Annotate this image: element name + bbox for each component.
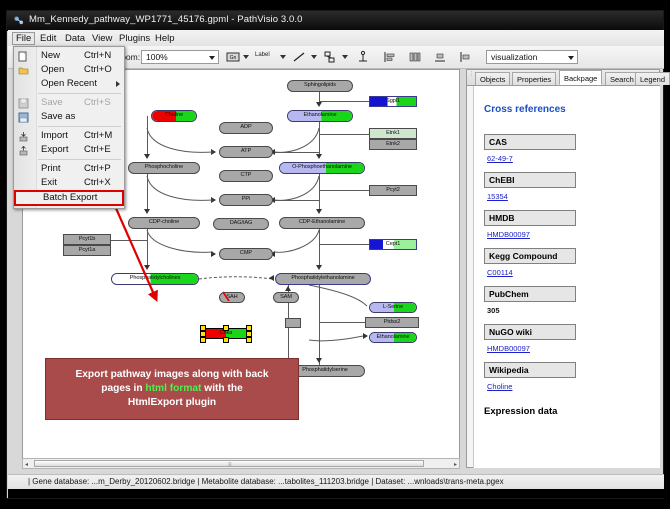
interaction-tool-icon[interactable]	[323, 50, 337, 64]
pathway-anchor-block[interactable]	[285, 318, 301, 328]
pathway-node[interactable]: O-Phosphoethanolamine	[279, 162, 365, 174]
menu-view[interactable]: View	[88, 32, 116, 45]
pathway-node[interactable]: ATP	[219, 146, 273, 158]
pathvisio-window: Mm_Kennedy_pathway_WP1771_45176.gpml - P…	[6, 10, 664, 499]
pathway-node[interactable]: Etnk2	[369, 139, 417, 150]
file-menu-item-open[interactable]: Open Ctrl+O	[14, 63, 124, 77]
pathway-node[interactable]: Ethanolamine	[287, 110, 353, 122]
tab-objects[interactable]: Objects	[475, 72, 510, 85]
window-title: Mm_Kennedy_pathway_WP1771_45176.gpml - P…	[29, 14, 303, 25]
accelerator: Ctrl+O	[84, 63, 112, 77]
annotation-highlight: html format	[145, 383, 201, 394]
file-menu-dropdown[interactable]: New Ctrl+N Open Ctrl+O Open Recent Save …	[13, 46, 125, 209]
menu-file[interactable]: File	[12, 32, 35, 45]
save-as-icon	[18, 112, 29, 123]
pathway-node[interactable]: SAH	[219, 292, 245, 303]
xref-value-cas[interactable]: 62-49-7	[487, 154, 513, 163]
arrow-icon	[363, 333, 368, 339]
label: New	[41, 49, 60, 63]
svg-text:Gn: Gn	[230, 55, 237, 61]
distribute-icon[interactable]	[433, 50, 447, 64]
xref-label-kegg-compound: Kegg Compound	[484, 248, 576, 264]
tab-search[interactable]: Search	[605, 72, 639, 85]
open-folder-icon	[18, 65, 29, 76]
pathway-node[interactable]: CDP-Ethanolamine	[279, 217, 365, 229]
label: Open	[41, 63, 64, 77]
menu-plugins[interactable]: Plugins	[115, 32, 154, 45]
status-bar: | Gene database: ...m_Derby_20120602.bri…	[8, 474, 664, 489]
accelerator: Ctrl+P	[84, 162, 111, 176]
annotation-line-2b: with the	[201, 383, 242, 394]
annotation-text: Export pathway images along with back pa…	[69, 368, 274, 410]
xref-value-chebi[interactable]: 15354	[487, 192, 508, 201]
label: Export	[41, 143, 68, 157]
xref-label-chebi: ChEBI	[484, 172, 576, 188]
file-menu-item-import[interactable]: Import Ctrl+M	[14, 129, 124, 143]
pathway-node[interactable]: Phosphatidylcholines	[111, 273, 199, 285]
file-menu-item-exit[interactable]: Exit Ctrl+X	[14, 176, 124, 190]
pathway-node[interactable]: SAM	[273, 292, 299, 303]
label: Save	[41, 96, 63, 110]
menu-separator	[38, 93, 121, 94]
line-tool-icon[interactable]	[292, 50, 306, 64]
menu-data[interactable]: Data	[61, 32, 89, 45]
label: Import	[41, 129, 68, 143]
pathway-node[interactable]: DAG/IAG	[213, 218, 269, 230]
xref-label-hmdb: HMDB	[484, 210, 576, 226]
file-menu-item-new[interactable]: New Ctrl+N	[14, 49, 124, 63]
chevron-right-icon	[116, 81, 120, 87]
pathway-node[interactable]: Cept1	[369, 239, 417, 250]
file-menu-item-export[interactable]: Export Ctrl+E	[14, 143, 124, 157]
pathway-node[interactable]: Sgpl1	[369, 96, 417, 107]
tab-properties[interactable]: Properties	[512, 72, 556, 85]
file-menu-item-batch-export[interactable]: Batch Export	[14, 190, 124, 206]
pathway-node[interactable]: Pcyt1a	[63, 245, 111, 256]
side-panel-tabs: ⋮ Objects Properties Backpage Search Leg…	[467, 70, 659, 86]
pathway-node[interactable]: CMP	[219, 248, 273, 260]
import-icon	[18, 131, 29, 142]
annotation-line-1: Export pathway images along with back	[75, 369, 268, 380]
file-menu-item-save-as[interactable]: Save as	[14, 110, 124, 124]
pathway-node[interactable]: Sphingolipids	[287, 80, 353, 92]
menu-help[interactable]: Help	[151, 32, 179, 45]
label: Batch Export	[43, 192, 97, 204]
label: Exit	[41, 176, 57, 190]
save-disk-icon	[18, 98, 29, 109]
visualization-combo[interactable]: visualization	[486, 50, 578, 64]
visualization-value: visualization	[491, 52, 537, 62]
label: Save as	[41, 110, 75, 124]
align-center-icon[interactable]	[408, 50, 422, 64]
pathvisio-app-icon	[13, 15, 24, 26]
pathway-node[interactable]: Pcyt2	[369, 185, 417, 196]
xref-value-pubchem: 305	[487, 306, 500, 315]
xref-label-cas: CAS	[484, 134, 576, 150]
menu-separator	[38, 126, 121, 127]
accelerator: Ctrl+N	[84, 49, 111, 63]
anchor-tool-icon[interactable]	[356, 50, 370, 64]
pathway-node[interactable]: Pcyt1b	[63, 234, 111, 245]
window-bottom-edge	[8, 489, 664, 498]
xref-label-wikipedia: Wikipedia	[484, 362, 576, 378]
title-bar: Mm_Kennedy_pathway_WP1771_45176.gpml - P…	[7, 11, 663, 31]
pathway-node[interactable]: PPi	[219, 194, 273, 206]
datanode-dropdown-icon[interactable]	[243, 55, 249, 59]
scrollbar-grip-icon: ≡	[228, 462, 232, 468]
label: Open Recent	[41, 77, 97, 91]
xref-label-pubchem: PubChem	[484, 286, 576, 302]
pathway-node[interactable]: Choline	[151, 110, 197, 122]
menu-bar: File Edit Data View Plugins Help	[8, 30, 664, 47]
annotation-line-3: HtmlExport plugin	[128, 397, 216, 408]
panel-grip-icon[interactable]: ⋮	[469, 72, 474, 77]
line-dropdown-icon[interactable]	[311, 55, 317, 59]
menu-edit[interactable]: Edit	[36, 32, 60, 45]
pathway-node[interactable]: ADP	[219, 122, 273, 134]
label-dropdown-icon[interactable]	[280, 55, 286, 59]
menu-separator	[38, 159, 121, 160]
tab-backpage[interactable]: Backpage	[559, 70, 602, 85]
accelerator: Ctrl+S	[84, 96, 111, 110]
label: Print	[41, 162, 61, 176]
pathway-node[interactable]: L-Serine	[369, 302, 417, 313]
new-file-icon	[18, 51, 29, 62]
pathway-node[interactable]: Phosphatidylethanolamine	[275, 273, 371, 285]
status-text: | Gene database: ...m_Derby_20120602.bri…	[28, 477, 504, 486]
zoom-value: 100%	[146, 52, 168, 62]
align-left-icon[interactable]	[383, 50, 397, 64]
file-menu-item-print[interactable]: Print Ctrl+P	[14, 162, 124, 176]
label-tool-label: Label	[255, 52, 270, 58]
xref-value-nugo-wiki[interactable]: HMDB00097	[487, 344, 530, 353]
screenshot-frame: Mm_Kennedy_pathway_WP1771_45176.gpml - P…	[0, 0, 670, 509]
interaction-dropdown-icon[interactable]	[342, 55, 348, 59]
xref-value-wikipedia[interactable]: Choline	[487, 382, 512, 391]
arrow-icon	[269, 275, 274, 281]
side-panel: ⋮ Objects Properties Backpage Search Leg…	[466, 69, 660, 468]
scroll-left-icon[interactable]: ◂	[25, 461, 28, 468]
cross-references-title: Cross references	[484, 104, 566, 115]
xref-value-hmdb[interactable]: HMDB00097	[487, 230, 530, 239]
xref-value-kegg-compound[interactable]: C00114	[487, 268, 513, 277]
chevron-down-icon	[568, 56, 574, 60]
scroll-right-icon[interactable]: ▸	[454, 461, 457, 468]
file-menu-item-save: Save Ctrl+S	[14, 96, 124, 110]
accelerator: Ctrl+M	[84, 129, 112, 143]
stack-icon[interactable]	[458, 50, 472, 64]
pathway-node[interactable]: Ethanolamine	[369, 332, 417, 343]
expression-data-title: Expression data	[484, 406, 557, 417]
zoom-combo[interactable]: 100%	[141, 50, 219, 64]
pathway-node[interactable]: Etnk1	[369, 128, 417, 139]
backpage-content[interactable]: Cross references CAS 62-49-7 ChEBI 15354…	[473, 86, 660, 468]
pathway-node[interactable]: CTP	[219, 170, 273, 182]
xref-label-nugo-wiki: NuGO wiki	[484, 324, 576, 340]
file-menu-item-open-recent[interactable]: Open Recent	[14, 77, 124, 91]
accelerator: Ctrl+X	[84, 176, 111, 190]
datanode-tool-icon[interactable]: Gn	[226, 50, 240, 64]
export-icon	[18, 145, 29, 156]
pathway-node[interactable]: CDP-choline	[128, 217, 200, 229]
pathway-node[interactable]: Ptdss2	[365, 317, 419, 328]
accelerator: Ctrl+E	[84, 143, 111, 157]
chevron-down-icon	[209, 56, 215, 60]
canvas-horizontal-scrollbar[interactable]: ◂ ≡ ▸	[22, 458, 460, 469]
annotation-callout: Export pathway images along with back pa…	[45, 358, 299, 420]
annotation-line-2a: pages in	[101, 383, 145, 394]
pathway-node[interactable]: Phosphocholine	[128, 162, 200, 174]
tab-legend[interactable]: Legend	[635, 72, 670, 85]
